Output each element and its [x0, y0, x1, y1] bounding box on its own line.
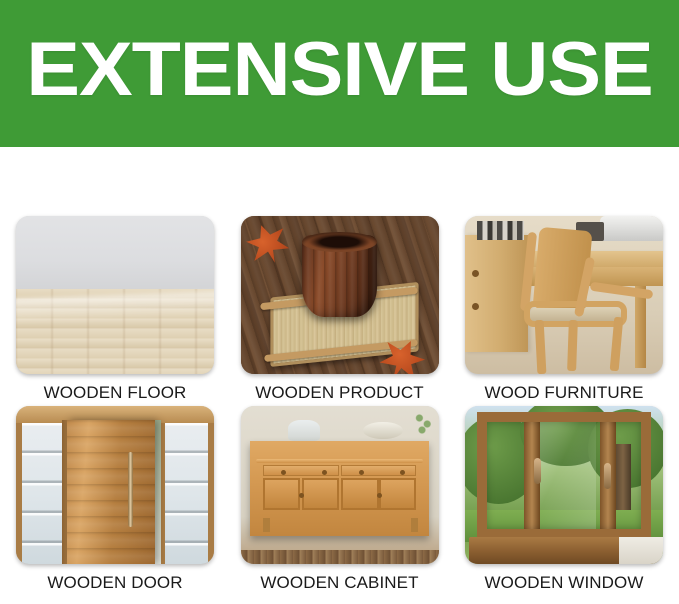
card-caption: WOODEN PRODUCT	[255, 383, 424, 403]
gallery-card-wooden-cabinet[interactable]: WOODEN CABINET	[241, 406, 439, 604]
cabinet-knob	[472, 303, 479, 310]
glassware-set	[288, 420, 320, 441]
books-stack	[477, 221, 525, 240]
door-handle	[128, 452, 133, 527]
wood-cabinet	[465, 235, 528, 352]
window-frame	[477, 412, 651, 538]
wooden-product-scene	[241, 216, 439, 374]
cabinet-leg	[263, 518, 270, 531]
card-caption: WOODEN CABINET	[260, 573, 418, 593]
gallery-grid: WOODEN FLOOR WOODEN PRODUCT	[0, 147, 679, 591]
gallery-card-wooden-product[interactable]: WOODEN PRODUCT	[241, 216, 439, 414]
wood-furniture-scene	[465, 216, 663, 374]
card-caption: WOODEN WINDOW	[485, 573, 644, 593]
wooden-door-slab	[67, 420, 154, 564]
header-banner: EXTENSIVE USE	[0, 0, 679, 147]
gallery-card-wood-furniture[interactable]: WOOD FURNITURE	[465, 216, 663, 414]
cabinet-door-panel	[302, 478, 339, 510]
chair-leg	[567, 320, 578, 371]
card-caption: WOODEN DOOR	[47, 573, 182, 593]
glass-panel-lines	[22, 423, 65, 564]
gallery-card-wooden-door[interactable]: WOODEN DOOR	[16, 406, 214, 604]
monitor-device	[600, 216, 663, 241]
cabinet-door-panel	[263, 478, 300, 510]
gallery-row: WOODEN FLOOR WOODEN PRODUCT	[0, 216, 679, 414]
plate-stack	[363, 422, 403, 439]
wooden-floor-photo[interactable]	[16, 216, 214, 374]
flower-vase	[409, 409, 435, 439]
wooden-floor-scene	[16, 216, 214, 374]
frosted-glass-sidelight	[159, 423, 214, 564]
wooden-product-photo[interactable]	[241, 216, 439, 374]
gallery-card-wooden-window[interactable]: WOODEN WINDOW	[465, 406, 663, 604]
cup-grain-texture	[302, 241, 377, 317]
cabinet-knob	[299, 493, 304, 498]
sideboard-top	[256, 459, 423, 464]
wooden-cabinet-photo[interactable]	[241, 406, 439, 564]
glass-panel-lines	[165, 423, 208, 564]
wooden-window-photo[interactable]	[465, 406, 663, 564]
wooden-cabinet-scene	[241, 406, 439, 564]
cabinet-drawer	[341, 465, 416, 475]
wood-furniture-photo[interactable]	[465, 216, 663, 374]
window-sill-edge	[619, 537, 663, 564]
cabinet-knob	[377, 493, 382, 498]
cabinet-knob	[472, 270, 479, 277]
cabinet-door-panel	[379, 478, 416, 510]
wooden-window-scene	[465, 406, 663, 564]
sideboard-body	[250, 441, 428, 536]
cabinet-leg	[411, 518, 418, 531]
cabinet-drawer	[263, 465, 340, 475]
cabinet-door-panel	[341, 478, 378, 510]
cabinet-knob	[322, 470, 327, 475]
gallery-card-wooden-floor[interactable]: WOODEN FLOOR	[16, 216, 214, 414]
wall-surface	[16, 216, 214, 290]
card-caption: WOODEN FLOOR	[44, 383, 187, 403]
door-grain-texture	[67, 420, 154, 564]
gallery-row: WOODEN DOOR	[0, 406, 679, 604]
cabinet-knob	[281, 470, 286, 475]
page-title: EXTENSIVE USE	[0, 30, 679, 110]
wooden-door-photo[interactable]	[16, 406, 214, 564]
wooden-door-scene	[16, 406, 214, 564]
card-caption: WOOD FURNITURE	[484, 383, 643, 403]
floor-rug	[241, 550, 439, 564]
